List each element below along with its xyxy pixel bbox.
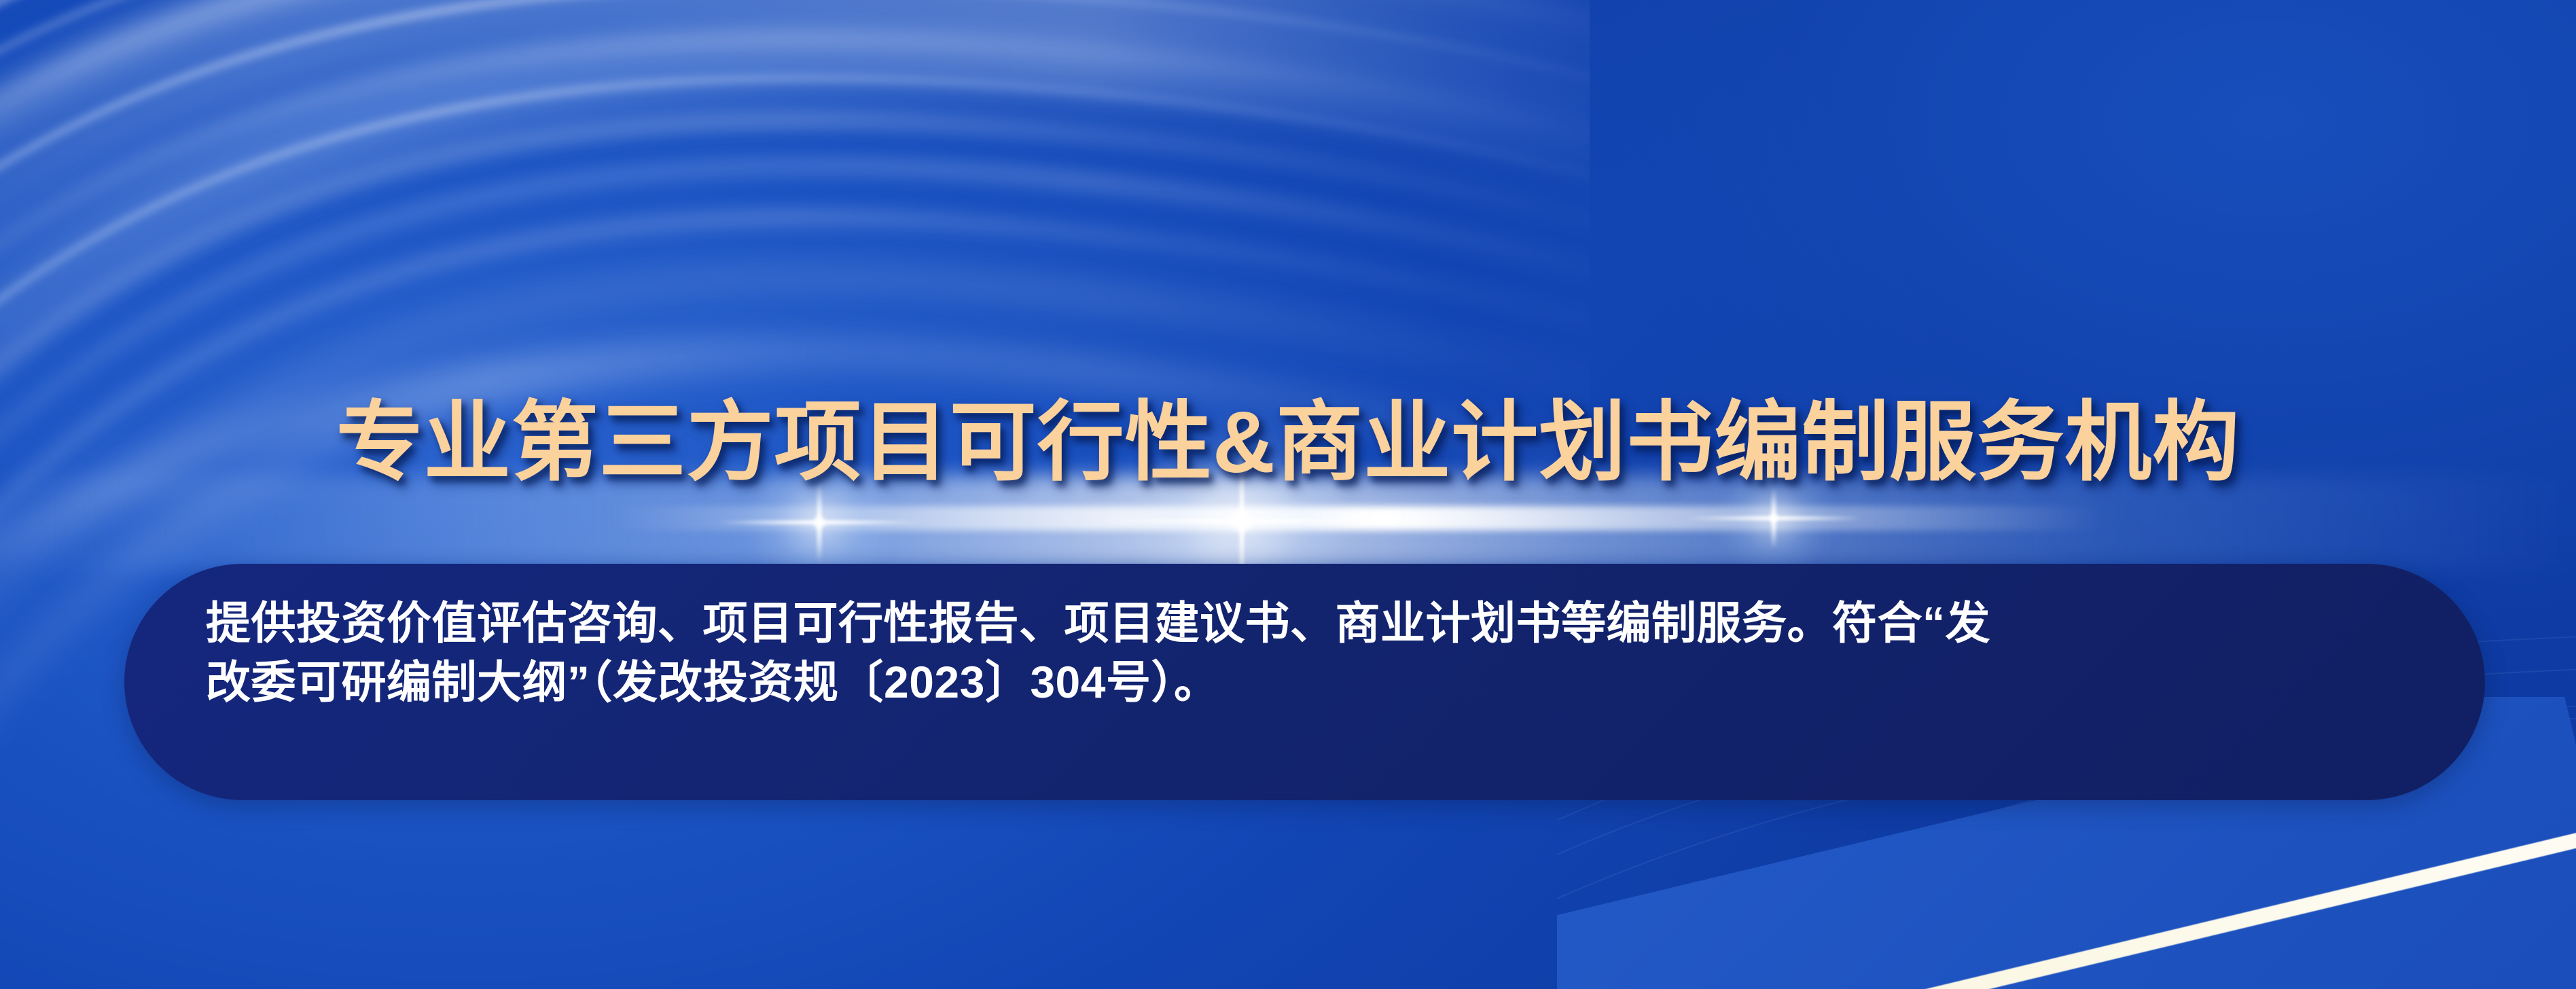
- description-text: 提供投资价值评估咨询、项目可行性报告、项目建议书、商业计划书等编制服务。符合“发…: [206, 594, 2420, 712]
- description-line-1: 提供投资价值评估咨询、项目可行性报告、项目建议书、商业计划书等编制服务。符合“发: [206, 594, 2420, 653]
- description-panel: 提供投资价值评估咨询、项目可行性报告、项目建议书、商业计划书等编制服务。符合“发…: [124, 564, 2485, 800]
- promo-banner: 专业第三方项目可行性&商业计划书编制服务机构 提供投资价值评估咨询、项目可行性报…: [0, 0, 2576, 989]
- page-title: 专业第三方项目可行性&商业计划书编制服务机构: [0, 399, 2576, 486]
- headline-glow-streak: [611, 506, 2106, 531]
- description-line-2: 改委可研编制大纲”（发改投资规〔2023〕304号）。: [206, 653, 2420, 712]
